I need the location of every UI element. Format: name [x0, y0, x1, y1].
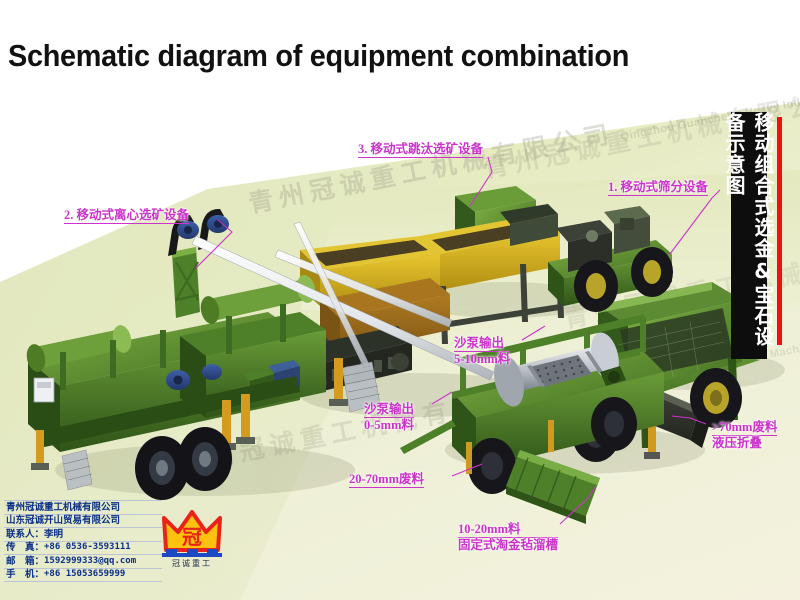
crown-icon: 冠	[164, 512, 220, 550]
callout-line: 2. 移动式离心选矿设备	[64, 208, 189, 224]
callout-sluice-10-20: 10-20mm料 固定式淘金毡溜槽	[458, 522, 558, 554]
callout-line: 10-20mm料	[458, 522, 558, 538]
contact-key: 邮 箱：	[6, 557, 44, 567]
callout-line: 20-70mm废料	[349, 472, 424, 488]
contact-row-fax: 传 真： +86 0536-3593111	[4, 542, 162, 556]
pump	[202, 364, 222, 380]
company-logo: 冠 冠诚重工	[160, 508, 230, 570]
callout-line: 5-10mm料	[454, 352, 510, 367]
contact-key: 山东冠诚开山贸易有限公司	[6, 516, 120, 526]
callout-waste-over-70: >70mm废料 液压折叠	[712, 420, 777, 452]
callout-line: 1. 移动式筛分设备	[608, 180, 708, 196]
callout-line: 液压折叠	[712, 436, 777, 451]
contact-value: +86 15053659999	[44, 570, 125, 580]
callout-line: 0-5mm料	[364, 418, 414, 433]
page-title: Schematic diagram of equipment combinati…	[8, 38, 629, 74]
callout-equipment-3: 3. 移动式跳汰选矿设备	[358, 142, 483, 158]
side-banner-accent-bar	[777, 117, 782, 345]
machine-jig-trailer	[548, 206, 673, 312]
wheel	[631, 247, 673, 297]
contact-row: 联系人： 李明	[4, 528, 162, 542]
callout-equipment-1: 1. 移动式筛分设备	[608, 180, 708, 196]
outrigger-jack	[36, 430, 44, 464]
wheel	[591, 397, 637, 451]
callout-equipment-2: 2. 移动式离心选矿设备	[64, 208, 189, 224]
callout-line: >70mm废料	[712, 420, 777, 436]
svg-text:冠: 冠	[182, 525, 202, 549]
callout-line: 沙泵输出	[454, 336, 510, 352]
schematic-canvas: 青州冠诚重工机械有限公司 Qingzhou Guancheng Heavy In…	[0, 0, 800, 600]
wheel	[178, 427, 232, 491]
contact-value: 1592999333@qq.com	[44, 557, 136, 567]
callout-pump-out-5-10: 沙泵输出 5-10mm料	[454, 336, 510, 368]
wheel	[574, 260, 618, 312]
contact-key: 传 真：	[6, 543, 44, 553]
contact-value: 李明	[44, 530, 63, 540]
callout-line: 沙泵输出	[364, 402, 414, 418]
contact-row-mobile: 手 机： +86 15053659999	[4, 569, 162, 583]
logo-caption: 冠诚重工	[172, 558, 212, 568]
wheel	[690, 368, 742, 428]
logo-base	[162, 549, 222, 557]
contact-row-email: 邮 箱： 1592999333@qq.com	[4, 555, 162, 569]
contact-row: 青州冠诚重工机械有限公司	[4, 500, 162, 515]
contact-card: 青州冠诚重工机械有限公司 山东冠诚开山贸易有限公司 联系人： 李明 传 真： +…	[4, 500, 162, 582]
side-banner-title: 移动组合式选金&宝石设备示意图	[731, 112, 767, 359]
callout-waste-20-70: 20-70mm废料	[349, 472, 424, 488]
callout-pump-out-0-5: 沙泵输出 0-5mm料	[364, 402, 414, 434]
contact-key: 联系人：	[6, 530, 44, 540]
callout-line: 固定式淘金毡溜槽	[458, 538, 558, 553]
contact-value: +86 0536-3593111	[44, 543, 131, 553]
contact-key: 手 机：	[6, 570, 44, 580]
contact-row: 山东冠诚开山贸易有限公司	[4, 515, 162, 529]
callout-line: 3. 移动式跳汰选矿设备	[358, 142, 483, 158]
contact-key: 青州冠诚重工机械有限公司	[6, 503, 120, 513]
